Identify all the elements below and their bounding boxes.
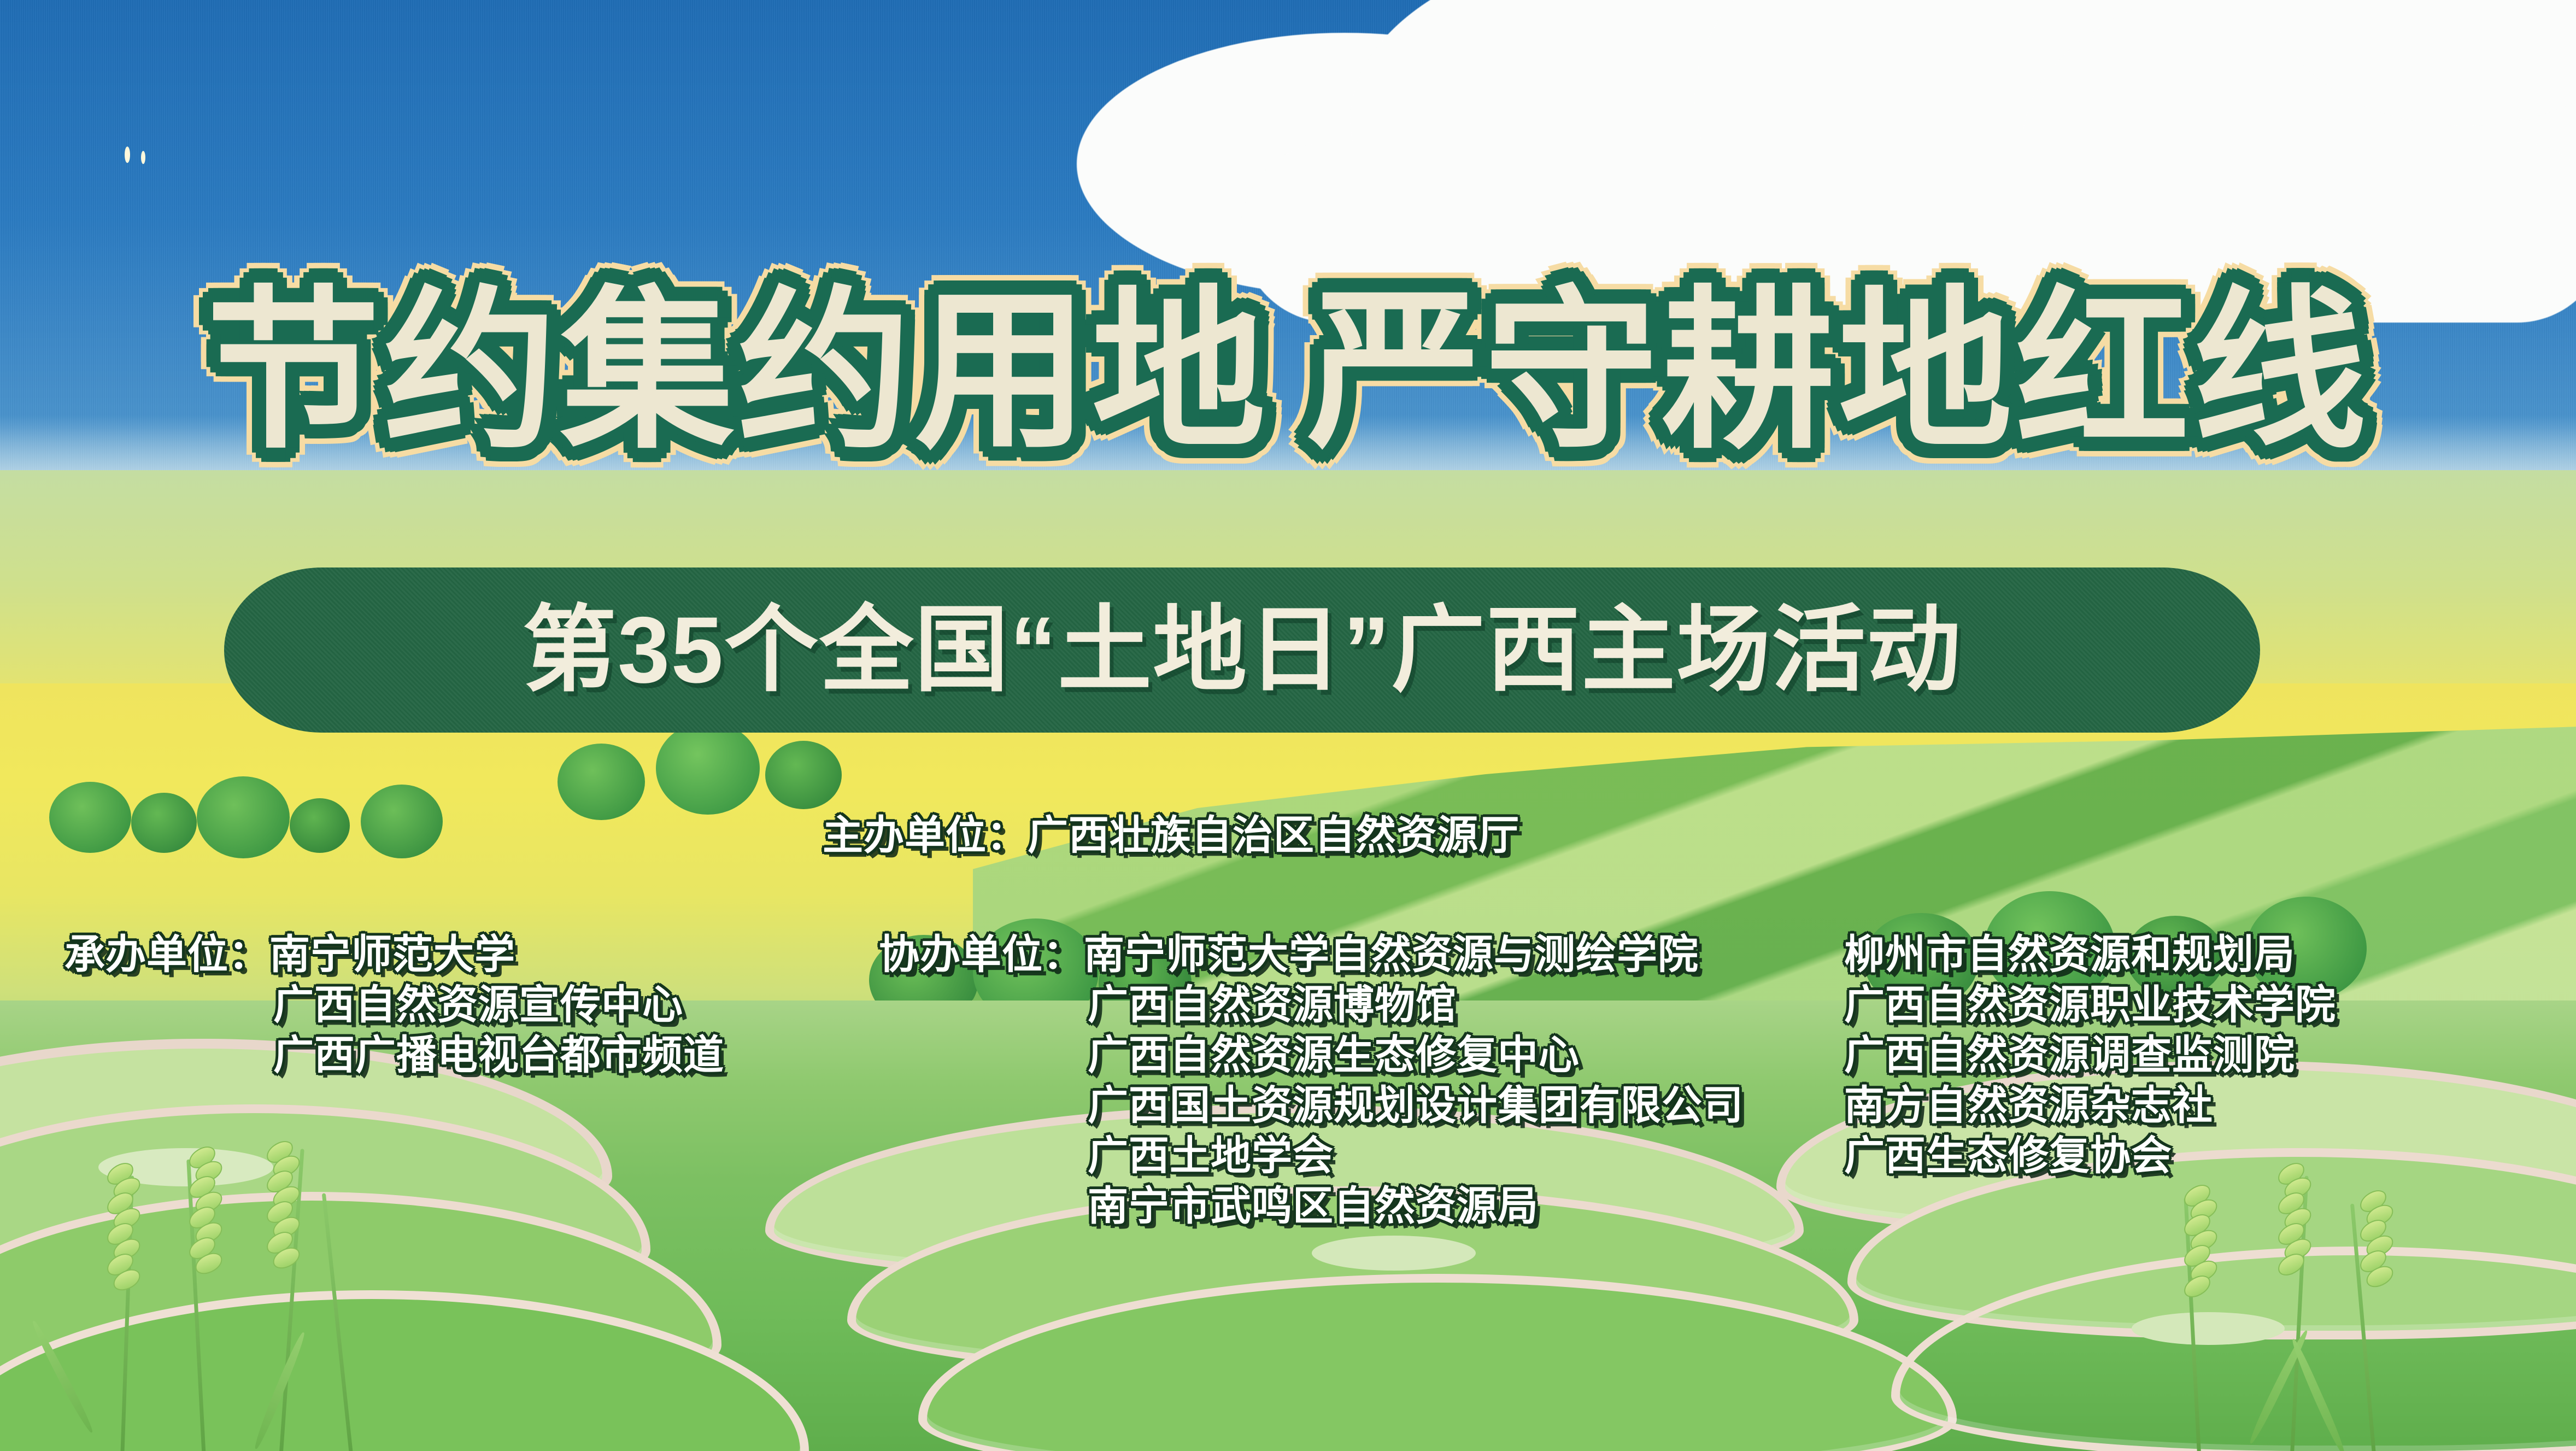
host-organization-line: 主办单位：广西壮族自治区自然资源厅 [823,810,1519,861]
poster-canvas: 节约集约用地严守耕地红线 第35个全国“土地日”广西主场活动 主办单位：广西壮族… [0,0,2576,1451]
coorganizer-item: 南宁市武鸣区自然资源局 [879,1181,1744,1231]
sparkle-icon [125,147,130,163]
support-item: 柳州市自然资源和规划局 [1844,929,2336,980]
organizer-first-row: 承办单位：南宁师范大学 [64,929,724,980]
coorganizer-column: 协办单位：南宁师范大学自然资源与测绘学院 广西自然资源博物馆 广西自然资源生态修… [879,929,1744,1231]
organizer-label: 承办单位： [64,932,269,977]
main-title-part1: 节约集约用地 [207,274,1269,469]
wheat-ear [191,1148,216,1285]
main-title: 节约集约用地严守耕地红线 [0,257,2576,487]
coorganizer-first-row: 协办单位：南宁师范大学自然资源与测绘学院 [879,929,1744,980]
organizer-item: 广西广播电视台都市频道 [64,1030,724,1080]
coorganizer-item: 广西自然资源生态修复中心 [879,1030,1744,1080]
organizer-first-item: 南宁师范大学 [269,932,515,977]
sparkle-icon [141,151,145,164]
support-item: 南方自然资源杂志社 [1844,1080,2336,1131]
tree-cluster-left [33,760,525,869]
subtitle-text: 第35个全国“土地日”广西主场活动 [523,603,1962,697]
coorganizer-item: 广西自然资源博物馆 [879,980,1744,1030]
wheat-stalk-group-right [2110,1165,2525,1451]
wheat-ear [2362,1192,2387,1329]
organizer-item: 广西自然资源宣传中心 [64,980,724,1030]
host-organization-text: 主办单位：广西壮族自治区自然资源厅 [823,810,1519,861]
wheat-stalk-group-left [22,1143,437,1451]
organizer-column: 承办单位：南宁师范大学 广西自然资源宣传中心 广西广播电视台都市频道 [64,929,724,1080]
coorganizer-first-item: 南宁师范大学自然资源与测绘学院 [1084,932,1699,977]
wheat-ear [269,1143,294,1279]
wheat-ear [2280,1165,2305,1301]
subtitle-banner: 第35个全国“土地日”广西主场活动 [224,567,2260,733]
main-title-part2: 严守耕地红线 [1307,274,2370,469]
support-column: 柳州市自然资源和规划局 广西自然资源职业技术学院 广西自然资源调查监测院 南方自… [1844,929,2336,1181]
wheat-ear [109,1165,134,1301]
coorganizer-label: 协办单位： [879,932,1084,977]
support-item: 广西生态修复协会 [1844,1131,2336,1181]
coorganizer-item: 广西土地学会 [879,1131,1744,1181]
coorganizer-item: 广西国土资源规划设计集团有限公司 [879,1080,1744,1131]
support-item: 广西自然资源职业技术学院 [1844,980,2336,1030]
support-item: 广西自然资源调查监测院 [1844,1030,2336,1080]
wheat-ear [2186,1186,2211,1323]
